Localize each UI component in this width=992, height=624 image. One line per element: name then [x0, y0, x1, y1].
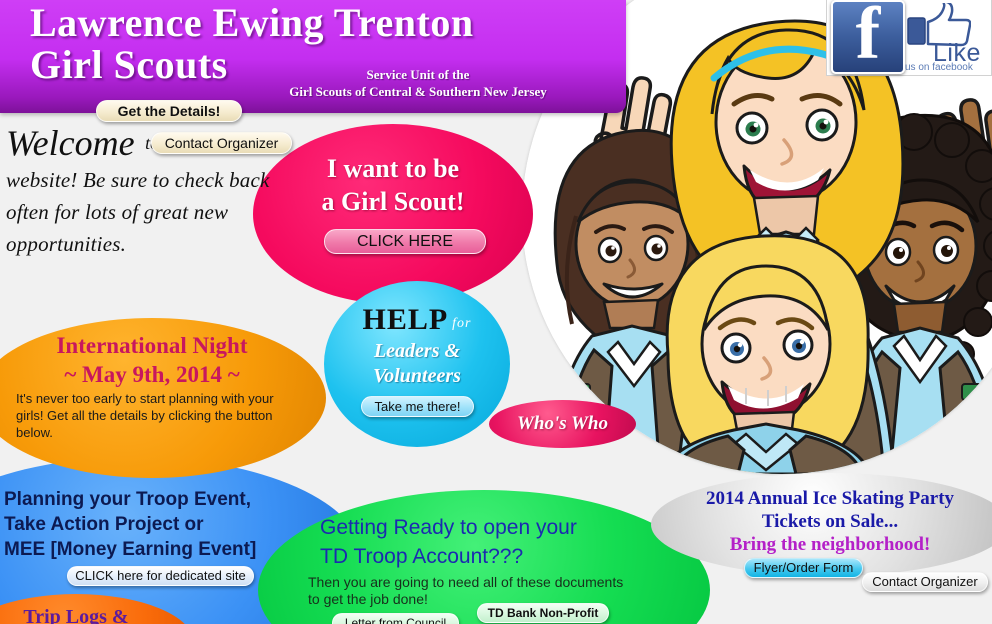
international-night-title-line2: ~ May 9th, 2014 ~ — [0, 360, 326, 389]
td-account-title-line1: Getting Ready to open your — [320, 513, 650, 542]
troop-event-dedicated-site-button[interactable]: CLICK here for dedicated site — [67, 566, 254, 586]
td-account-title-line2: TD Troop Account??? — [320, 542, 650, 571]
ice-skating-line2: Tickets on Sale... — [651, 510, 992, 533]
join-click-here-button[interactable]: CLICK HERE — [324, 229, 486, 254]
facebook-logo-icon[interactable] — [831, 0, 905, 74]
international-night-panel: International Night ~ May 9th, 2014 ~ It… — [0, 318, 326, 478]
ice-skating-contact-organizer-button[interactable]: Contact Organizer — [862, 572, 988, 592]
ice-skating-line3: Bring the neighborhood! — [651, 533, 992, 556]
welcome-body: website! Be sure to check back often for… — [6, 164, 296, 260]
ice-skating-line1: 2014 Annual Ice Skating Party — [651, 487, 992, 510]
international-night-title: International Night ~ May 9th, 2014 ~ — [0, 331, 326, 389]
international-night-title-line1: International Night — [0, 331, 326, 360]
ice-skating-flyer-order-form-button[interactable]: Flyer/Order Form — [744, 558, 863, 578]
facebook-like-badge[interactable]: Like us on facebook — [826, 0, 992, 76]
header-subtitle-line1: Service Unit of the — [238, 66, 598, 83]
td-account-nonprofit-button[interactable]: TD Bank Non-Profit — [477, 603, 609, 623]
help-subheading: Leaders & Volunteers — [324, 339, 510, 389]
help-take-me-there-button[interactable]: Take me there! — [361, 396, 474, 417]
help-heading-small: for — [452, 316, 471, 331]
trip-logs-title: Trip Logs & — [0, 606, 194, 624]
help-heading: HELPfor — [324, 303, 510, 337]
help-heading-main: HELP — [362, 303, 448, 336]
facebook-tagline: us on facebook — [905, 62, 973, 73]
help-subheading-line1: Leaders & — [324, 339, 510, 364]
help-subheading-line2: Volunteers — [324, 364, 510, 389]
international-night-details-button[interactable]: Get the Details! — [96, 100, 242, 122]
facebook-like-block[interactable]: Like us on facebook — [905, 0, 991, 75]
troop-event-line1: Planning your Troop Event, — [4, 487, 334, 512]
site-header-banner: Lawrence Ewing Trenton Girl Scouts Servi… — [0, 0, 626, 113]
td-account-body-line1: Then you are going to need all of these … — [308, 574, 678, 591]
td-account-letter-from-council-button[interactable]: Letter from Council — [332, 613, 459, 624]
troop-event-line2: Take Action Project or — [4, 512, 334, 537]
whos-who-label: Who's Who — [489, 413, 636, 435]
help-leaders-panel: HELPfor Leaders & Volunteers Take me the… — [324, 281, 510, 447]
header-subtitle: Service Unit of the Girl Scouts of Centr… — [238, 66, 598, 100]
page-title-line1: Lawrence Ewing Trenton — [30, 2, 590, 44]
header-subtitle-line2: Girl Scouts of Central & Southern New Je… — [238, 83, 598, 100]
page-root: Lawrence Ewing Trenton Girl Scouts Servi… — [0, 0, 992, 624]
ice-skating-title: 2014 Annual Ice Skating Party Tickets on… — [651, 487, 992, 556]
welcome-heading: Welcome — [6, 124, 135, 162]
international-night-body: It's never too early to start planning w… — [16, 390, 294, 441]
whos-who-panel[interactable]: Who's Who — [489, 400, 636, 448]
td-account-title: Getting Ready to open your TD Troop Acco… — [320, 513, 650, 571]
international-night-contact-button[interactable]: Contact Organizer — [151, 132, 292, 154]
